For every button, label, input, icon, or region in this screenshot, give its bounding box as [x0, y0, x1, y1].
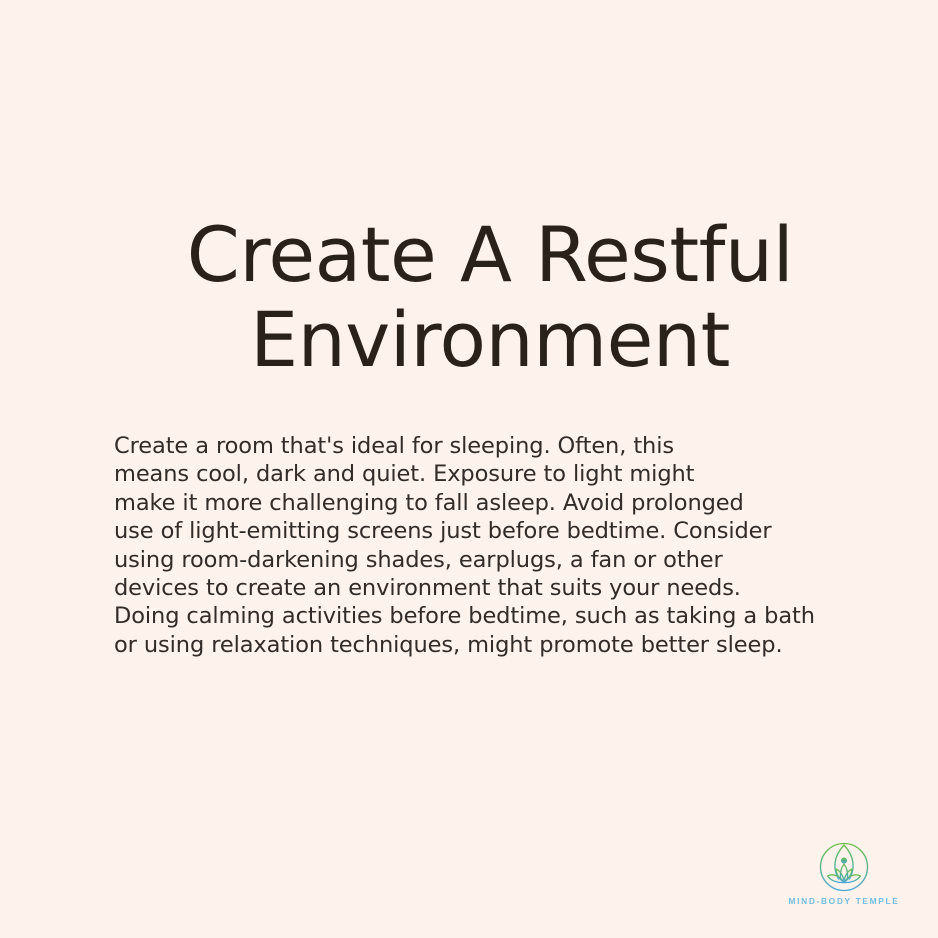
body-line-8: or using relaxation techniques, might pr… — [114, 631, 854, 659]
brand-wordmark: MIND-BODY TEMPLE — [789, 896, 900, 906]
body-line-7: Doing calming activities before bedtime,… — [114, 602, 854, 630]
slide-canvas: Create A Restful Environment Create a ro… — [0, 0, 938, 938]
page-title-line-2: Environment — [150, 297, 830, 382]
body-line-2: means cool, dark and quiet. Exposure to … — [114, 460, 854, 488]
body-line-4: use of light-emitting screens just befor… — [114, 517, 854, 545]
lotus-meditation-circle-logo-icon — [815, 840, 873, 892]
body-line-3: make it more challenging to fall asleep.… — [114, 489, 854, 517]
body-line-5: using room-darkening shades, earplugs, a… — [114, 546, 854, 574]
body-line-1: Create a room that's ideal for sleeping.… — [114, 432, 854, 460]
page-title-line-1: Create A Restful — [150, 212, 830, 297]
body-paragraph: Create a room that's ideal for sleeping.… — [114, 432, 854, 659]
brand-logo: MIND-BODY TEMPLE — [780, 840, 908, 920]
page-title: Create A Restful Environment — [150, 212, 830, 382]
body-line-6: devices to create an environment that su… — [114, 574, 854, 602]
